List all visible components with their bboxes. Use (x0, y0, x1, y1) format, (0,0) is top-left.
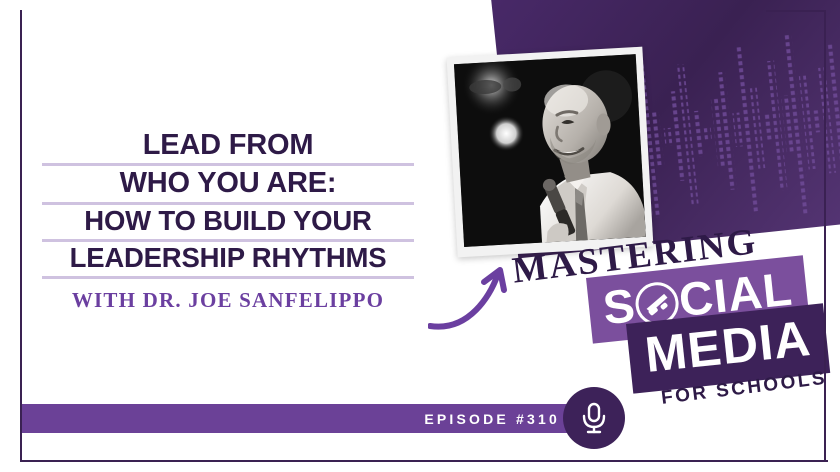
episode-graphic: LEAD FROM WHO YOU ARE: HOW TO BUILD YOUR… (0, 0, 840, 472)
frame-border-top-right (766, 10, 826, 12)
title-rule-4 (42, 276, 414, 279)
episode-number-label: EPISODE #310 (424, 411, 582, 427)
title-line-3: HOW TO BUILD YOUR (42, 205, 414, 239)
frame-border-bottom (20, 460, 828, 462)
title-line-1: LEAD FROM (42, 128, 414, 163)
title-line-2: WHO YOU ARE: (42, 166, 414, 201)
microphone-icon (579, 401, 609, 435)
frame-border-left (20, 10, 22, 462)
microphone-badge (563, 387, 625, 449)
episode-title-block: LEAD FROM WHO YOU ARE: HOW TO BUILD YOUR… (42, 128, 414, 313)
podcast-logo: MASTERING SCIAL MEDIA FOR SCHOOLS (498, 246, 828, 416)
episode-number-bar: EPISODE #310 (20, 404, 582, 433)
host-photo (454, 54, 646, 247)
title-line-4: LEADERSHIP RHYTHMS (42, 242, 414, 276)
frame-border-right (824, 10, 826, 462)
host-portrait-illustration (454, 54, 646, 247)
host-photo-frame (447, 47, 654, 258)
episode-host-subtitle: WITH DR. JOE SANFELIPPO (42, 288, 414, 313)
